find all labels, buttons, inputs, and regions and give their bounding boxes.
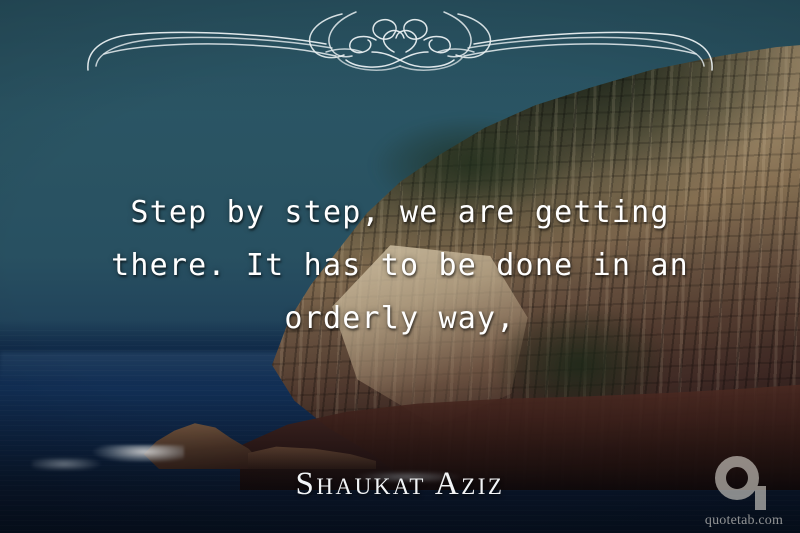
author-name: Shaukat Aziz [0, 466, 800, 503]
quote-line-3: orderly way, [40, 292, 760, 345]
quote-line-1: Step by step, we are getting [40, 186, 760, 239]
quote-line-2: there. It has to be done in an [40, 239, 760, 292]
watermark[interactable]: quotetab.com [696, 456, 792, 529]
logo-descender [755, 486, 766, 510]
quotetab-q-logo-icon [715, 456, 773, 512]
quote-text-block: Step by step, we are getting there. It h… [0, 186, 800, 345]
logo-ring [715, 456, 759, 500]
flourish-divider-icon [80, 8, 720, 76]
watermark-site-label: quotetab.com [696, 513, 792, 529]
quote-card: Step by step, we are getting there. It h… [0, 0, 800, 533]
